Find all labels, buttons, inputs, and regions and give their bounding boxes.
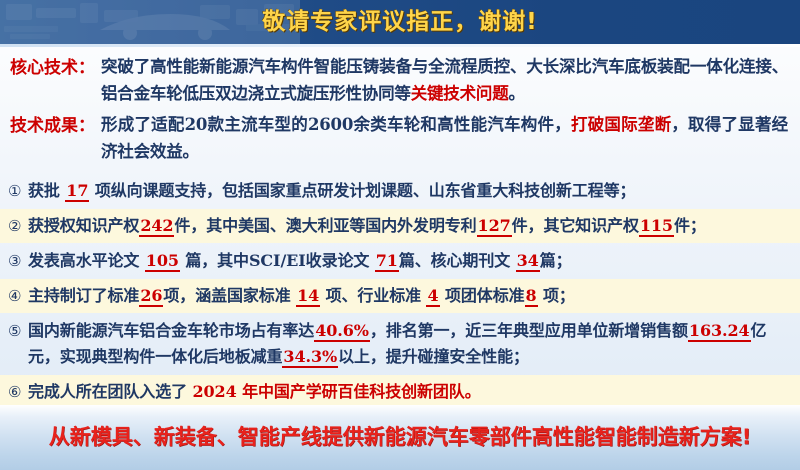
list-item-text: 发表高水平论文 105 篇，其中SCI/EI收录论文 71篇、核心期刊文 34篇… [28,251,572,272]
list-item-marker: ② [8,213,21,239]
list-item-marker: ⑤ [8,318,21,344]
list-item-marker: ④ [8,283,21,309]
slide-footer: 从新模具、新装备、智能产线提供新能源汽车零部件高性能智能制造新方案! [0,405,800,470]
list-item: ⑥ 完成人所在团队入选了 2024 年中国产学研百佳科技创新团队。 [0,375,800,409]
list-item-text: 国内新能源汽车铝合金车轮市场占有率达40.6%，排名第一，近三年典型应用单位新增… [28,321,766,368]
section-text-core-technology: 突破了高性能新能源汽车构件智能压铸装备与全流程质控、大长深比汽车底板装配一体化连… [95,53,788,107]
slide-body: 核心技术： 突破了高性能新能源汽车构件智能压铸装备与全流程质控、大长深比汽车底板… [0,47,800,405]
achievements-list: ① 获批 17 项纵向课题支持，包括国家重点研发计划课题、山东省重大科技创新工程… [0,174,800,409]
slide: 敬请专家评议指正，谢谢! 核心技术： 突破了高性能新能源汽车构件智能压铸装备与全… [0,0,800,470]
list-item: ① 获批 17 项纵向课题支持，包括国家重点研发计划课题、山东省重大科技创新工程… [0,174,800,208]
footer-slogan: 从新模具、新装备、智能产线提供新能源汽车零部件高性能智能制造新方案! [0,405,800,470]
section-text-technical-achievements: 形成了适配20款主流车型的2600余类车轮和高性能汽车构件，打破国际垄断，取得了… [95,111,788,165]
section-label-technical-achievements: 技术成果： [10,111,95,139]
section-core-technology: 核心技术： 突破了高性能新能源汽车构件智能压铸装备与全流程质控、大长深比汽车底板… [0,53,800,107]
list-item-marker: ① [8,178,21,204]
slide-header: 敬请专家评议指正，谢谢! [0,0,800,44]
page-title: 敬请专家评议指正，谢谢! [0,0,800,44]
list-item-text: 获授权知识产权242件，其中美国、澳大利亚等国内外发明专利127件，其它知识产权… [28,216,706,237]
list-item: ③ 发表高水平论文 105 篇，其中SCI/EI收录论文 71篇、核心期刊文 3… [0,244,800,278]
list-item-marker: ③ [8,248,21,274]
list-item: ② 获授权知识产权242件，其中美国、澳大利亚等国内外发明专利127件，其它知识… [0,209,800,243]
list-item: ⑤ 国内新能源汽车铝合金车轮市场占有率达40.6%，排名第一，近三年典型应用单位… [0,314,800,374]
section-label-core-technology: 核心技术： [10,53,95,81]
list-item-text: 主持制订了标准26项，涵盖国家标准 14 项、行业标准 4 项团体标准8 项； [28,286,575,307]
list-item-marker: ⑥ [8,379,21,405]
list-item-text: 获批 17 项纵向课题支持，包括国家重点研发计划课题、山东省重大科技创新工程等； [28,181,635,202]
section-technical-achievements: 技术成果： 形成了适配20款主流车型的2600余类车轮和高性能汽车构件，打破国际… [0,111,800,165]
list-item: ④ 主持制订了标准26项，涵盖国家标准 14 项、行业标准 4 项团体标准8 项… [0,279,800,313]
list-item-text: 完成人所在团队入选了 2024 年中国产学研百佳科技创新团队。 [28,382,481,401]
